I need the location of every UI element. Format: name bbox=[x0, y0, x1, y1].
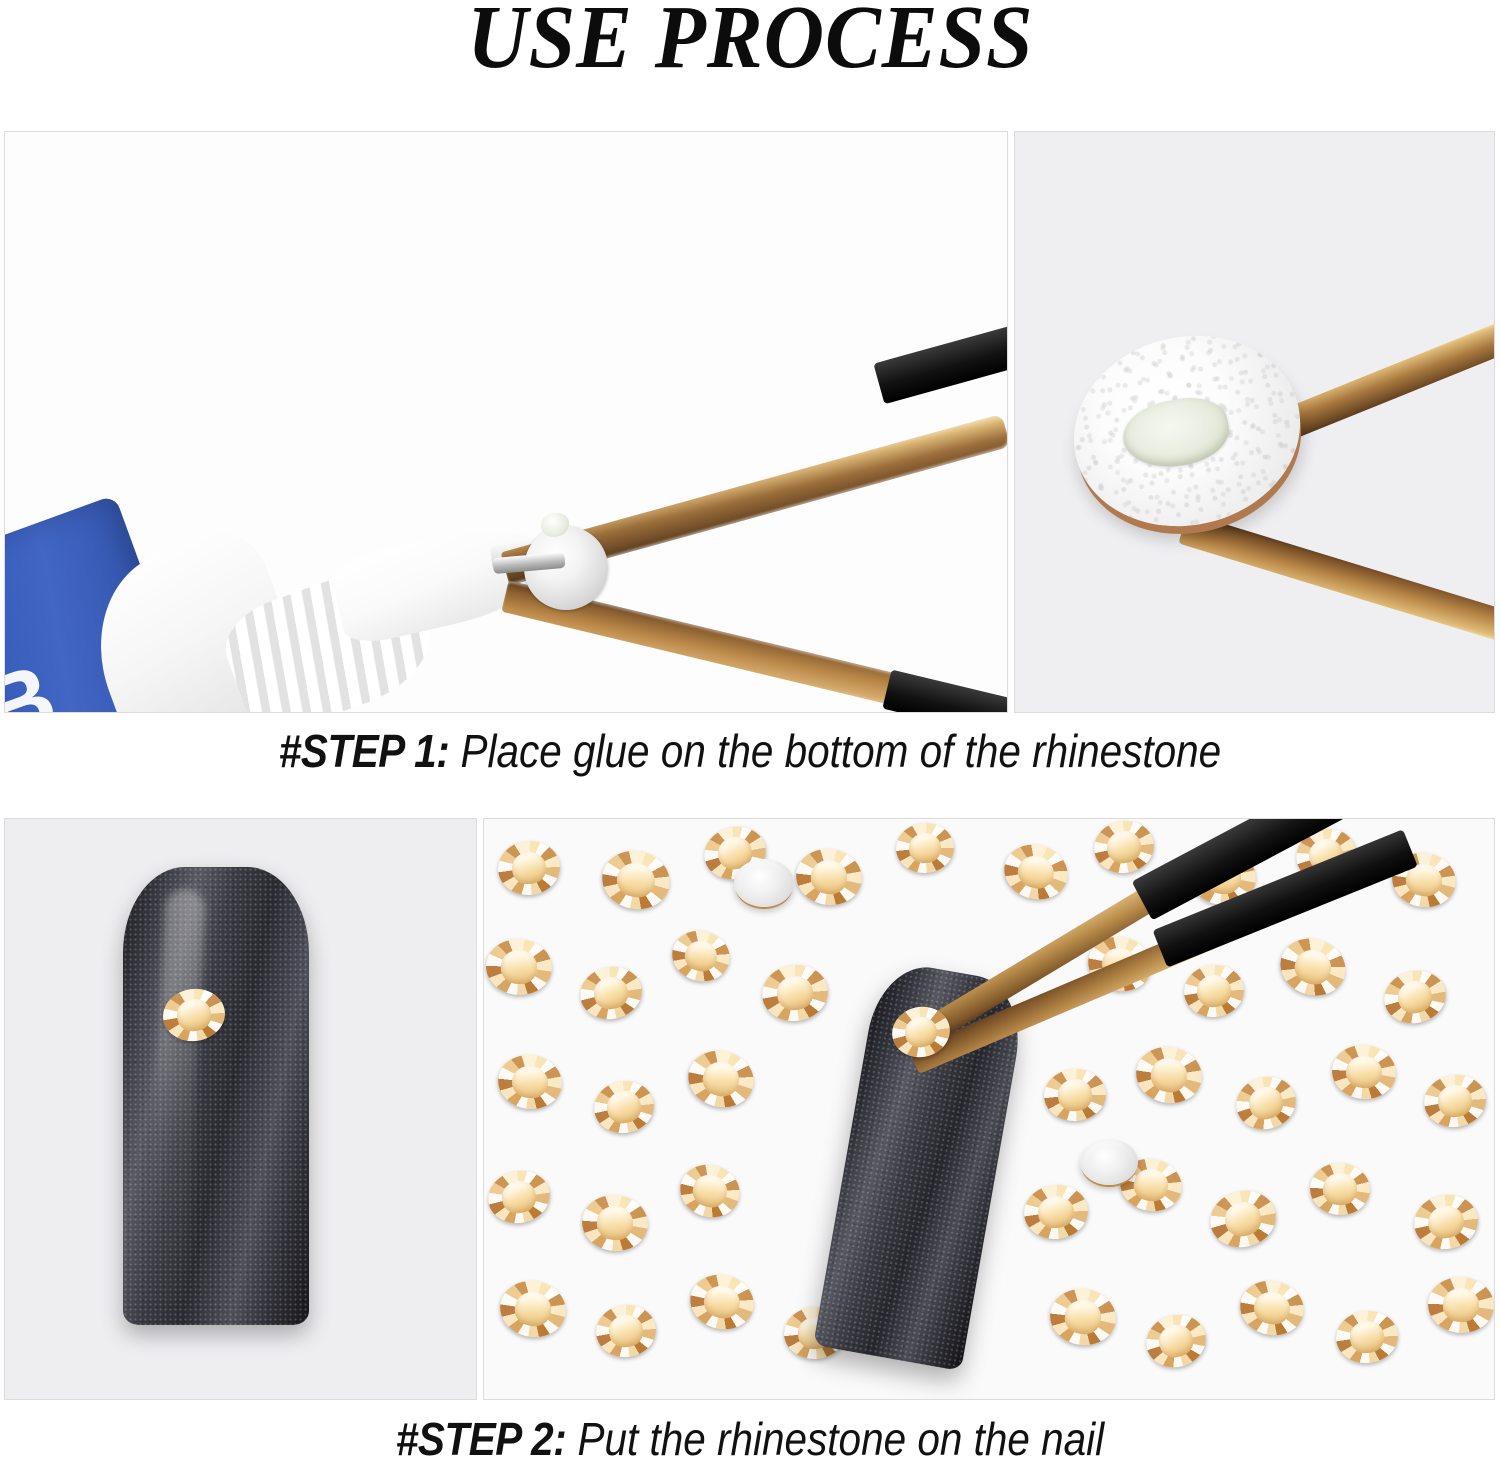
step-2-label: #STEP 2: bbox=[396, 1413, 566, 1465]
rhinestone bbox=[1273, 930, 1353, 1004]
page-header: USE PROCESS bbox=[0, 0, 1500, 118]
rhinestone bbox=[998, 837, 1074, 907]
rhinestone bbox=[1308, 1161, 1371, 1217]
rhinestone bbox=[1046, 1285, 1119, 1350]
rhinestone bbox=[579, 1192, 650, 1255]
rhinestone bbox=[667, 925, 735, 988]
rhinestone bbox=[1410, 1190, 1482, 1254]
rhinestone bbox=[1421, 1071, 1490, 1131]
rhinestone bbox=[1379, 964, 1452, 1029]
rhinestone bbox=[1140, 1308, 1212, 1375]
step-2-text: Put the rhinestone on the nail bbox=[566, 1413, 1104, 1465]
rhinestone bbox=[1329, 1042, 1398, 1102]
panel-bottom-right-placing-stone bbox=[483, 818, 1495, 1400]
rhinestone-flat-back bbox=[734, 859, 794, 907]
rhinestone bbox=[1235, 1275, 1309, 1341]
step-1-panel-row: B A bbox=[4, 131, 1495, 713]
rhinestone bbox=[684, 1268, 759, 1336]
step-2-panel-row bbox=[4, 818, 1495, 1400]
tweezers-lower-arm bbox=[1178, 513, 1495, 666]
rhinestone bbox=[1021, 1182, 1090, 1242]
step-1-text: Place glue on the bottom of the rhinesto… bbox=[449, 725, 1221, 777]
rhinestone bbox=[590, 1076, 658, 1138]
rhinestone bbox=[1230, 1070, 1302, 1137]
rhinestone bbox=[483, 1165, 554, 1229]
rhinestone bbox=[674, 1158, 746, 1225]
step-2-caption: #STEP 2: Put the rhinestone on the nail bbox=[90, 1412, 1410, 1466]
rhinestone bbox=[495, 838, 562, 898]
rhinestone bbox=[1181, 962, 1246, 1020]
rhinestone bbox=[1333, 1308, 1400, 1366]
rhinestone bbox=[484, 937, 554, 997]
page-title: USE PROCESS bbox=[467, 0, 1033, 80]
tweezers-lower-grip bbox=[882, 670, 1008, 713]
rhinestone bbox=[792, 845, 865, 910]
rhinestone bbox=[894, 821, 955, 875]
rhinestone bbox=[593, 1301, 660, 1361]
rhinestone-flat-back bbox=[1080, 1139, 1138, 1185]
rhinestone bbox=[1132, 1042, 1207, 1109]
rhinestone bbox=[1204, 1184, 1282, 1254]
step-1-caption: #STEP 1: Place glue on the bottom of the… bbox=[90, 724, 1410, 778]
rhinestone bbox=[575, 961, 646, 1025]
tweezers-upper-grip bbox=[873, 318, 1008, 404]
rhinestone bbox=[496, 1276, 571, 1343]
panel-bottom-left-nail-with-stone bbox=[4, 818, 477, 1400]
step-1-label: #STEP 1: bbox=[279, 725, 449, 777]
rhinestone bbox=[1426, 1275, 1495, 1335]
rhinestone bbox=[495, 1051, 566, 1113]
rhinestone bbox=[758, 961, 831, 1026]
rhinestone bbox=[597, 845, 676, 916]
rhinestone bbox=[1090, 818, 1158, 878]
panel-top-right-glue-closeup bbox=[1014, 131, 1495, 713]
panel-top-left-glue-on-stone: B A bbox=[4, 131, 1008, 713]
rhinestone bbox=[1042, 1067, 1107, 1123]
rhinestone bbox=[682, 1044, 760, 1114]
